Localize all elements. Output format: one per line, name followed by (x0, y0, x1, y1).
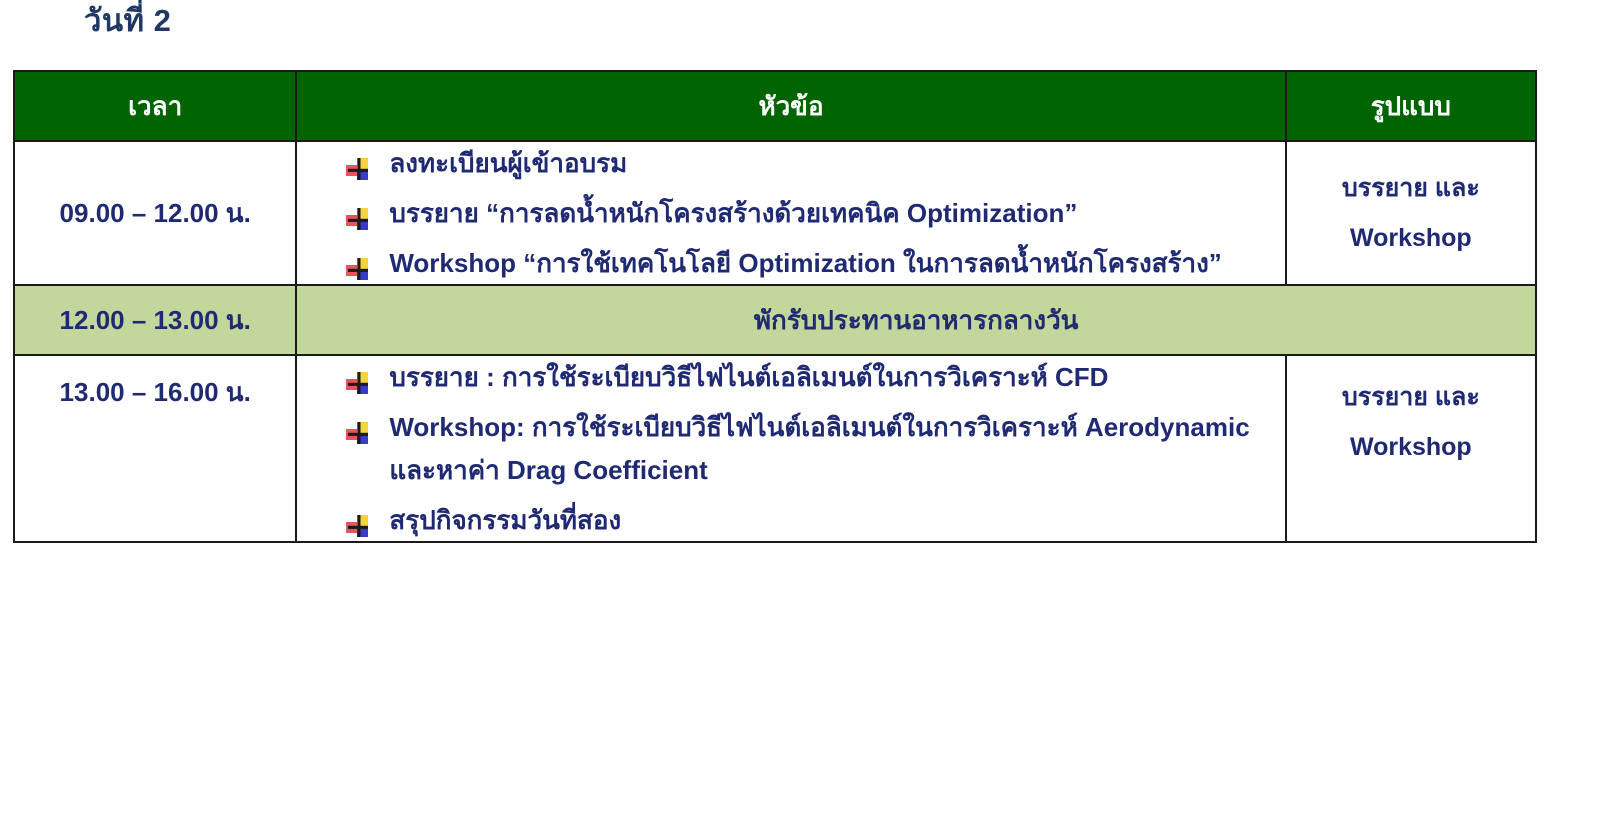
column-header-topic: หัวข้อ (296, 71, 1285, 141)
schedule-table: เวลา หัวข้อ รูปแบบ 09.00 – 12.00 น. (13, 70, 1537, 543)
table-row-lunch-break: 12.00 – 13.00 น. พักรับประทานอาหารกลางวั… (14, 285, 1536, 355)
format-line: Workshop (1287, 422, 1535, 472)
list-item: บรรยาย “การลดน้ำหนักโครงสร้างด้วยเทคนิค … (345, 192, 1284, 234)
cell-time-afternoon: 13.00 – 16.00 น. (14, 355, 296, 541)
office-plus-bullet-icon (345, 253, 371, 279)
office-plus-bullet-icon (345, 203, 371, 229)
column-header-time: เวลา (14, 71, 296, 141)
cell-time-morning: 09.00 – 12.00 น. (14, 141, 296, 285)
office-plus-bullet-icon (345, 367, 371, 393)
list-item: ลงทะเบียนผู้เข้าอบรม (345, 142, 1284, 184)
cell-format-morning: บรรยาย และ Workshop (1286, 141, 1536, 285)
office-plus-bullet-icon (345, 417, 371, 443)
list-item: สรุปกิจกรรมวันที่สอง (345, 499, 1284, 541)
table-header-row: เวลา หัวข้อ รูปแบบ (14, 71, 1536, 141)
format-line: บรรยาย และ (1287, 372, 1535, 422)
topic-text: ลงทะเบียนผู้เข้าอบรม (389, 148, 627, 178)
schedule-table-container: เวลา หัวข้อ รูปแบบ 09.00 – 12.00 น. (13, 70, 1537, 543)
topic-list-morning: ลงทะเบียนผู้เข้าอบรม (297, 142, 1284, 284)
table-row-afternoon-session: 13.00 – 16.00 น. (14, 355, 1536, 541)
topic-text: บรรยาย : การใช้ระเบียบวิธีไฟไนต์เอลิเมนต… (389, 362, 1108, 392)
cell-format-afternoon: บรรยาย และ Workshop (1286, 355, 1536, 541)
office-plus-bullet-icon (345, 153, 371, 179)
table-header: เวลา หัวข้อ รูปแบบ (14, 71, 1536, 141)
cell-time-lunch: 12.00 – 13.00 น. (14, 285, 296, 355)
format-line: Workshop (1287, 213, 1535, 263)
office-plus-bullet-icon (345, 510, 371, 536)
cell-lunch-label: พักรับประทานอาหารกลางวัน (296, 285, 1536, 355)
list-item: Workshop: การใช้ระเบียบวิธีไฟไนต์เอลิเมน… (345, 406, 1284, 490)
list-item: Workshop “การใช้เทคโนโลยี Optimization ใ… (345, 242, 1284, 284)
table-body: 09.00 – 12.00 น. (14, 141, 1536, 542)
page-title: วันที่ 2 (84, 2, 171, 41)
topic-list-afternoon: บรรยาย : การใช้ระเบียบวิธีไฟไนต์เอลิเมนต… (297, 356, 1284, 540)
list-item: บรรยาย : การใช้ระเบียบวิธีไฟไนต์เอลิเมนต… (345, 356, 1284, 398)
format-line: บรรยาย และ (1287, 163, 1535, 213)
column-header-format: รูปแบบ (1286, 71, 1536, 141)
cell-topic-morning: ลงทะเบียนผู้เข้าอบรม (296, 141, 1285, 285)
topic-text: สรุปกิจกรรมวันที่สอง (389, 505, 621, 535)
cell-topic-afternoon: บรรยาย : การใช้ระเบียบวิธีไฟไนต์เอลิเมนต… (296, 355, 1285, 541)
topic-text: บรรยาย “การลดน้ำหนักโครงสร้างด้วยเทคนิค … (389, 198, 1077, 228)
topic-text: Workshop: การใช้ระเบียบวิธีไฟไนต์เอลิเมน… (389, 412, 1249, 484)
topic-text: Workshop “การใช้เทคโนโลยี Optimization ใ… (389, 248, 1221, 278)
table-row-morning-session: 09.00 – 12.00 น. (14, 141, 1536, 285)
